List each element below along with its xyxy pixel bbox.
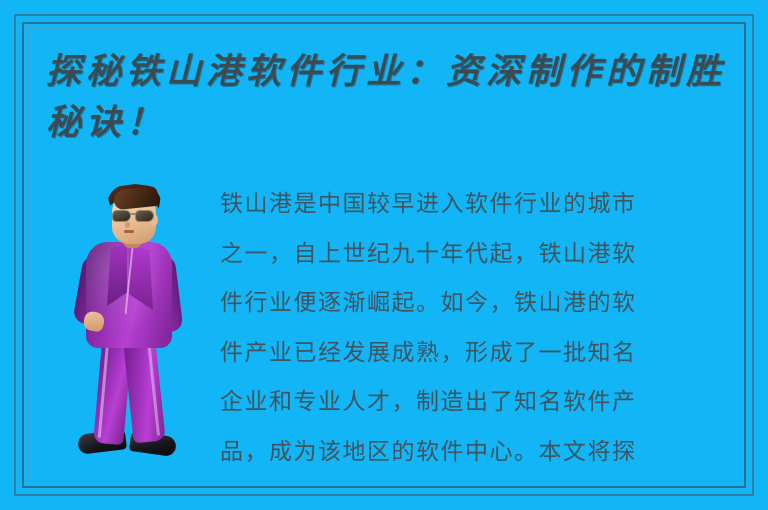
body-line-6: 品，成为该地区的软件中心。本文将探: [220, 428, 740, 478]
sunglasses-lens-left: [112, 210, 131, 222]
sunglasses-lens-right: [135, 210, 154, 222]
title-line-2: 秘诀！: [46, 97, 736, 148]
poster-title: 探秘铁山港软件行业：资深制作的制胜 秘诀！: [46, 46, 736, 148]
title-line-1: 探秘铁山港软件行业：资深制作的制胜: [46, 46, 736, 97]
poster-canvas: 探秘铁山港软件行业：资深制作的制胜 秘诀！: [0, 0, 768, 510]
mascot-mouth: [124, 230, 134, 233]
body-line-2: 之一，自上世纪九十年代起，铁山港软: [220, 230, 740, 280]
body-line-5: 企业和专业人才，制造出了知名软件产: [220, 378, 740, 428]
poster-body-text: 铁山港是中国较早进入软件行业的城市 之一，自上世纪九十年代起，铁山港软 件行业便…: [220, 180, 740, 477]
body-line-3: 件行业便逐渐崛起。如今，铁山港的软: [220, 279, 740, 329]
sunglasses-icon: [111, 210, 158, 223]
body-line-4: 件产业已经发展成熟，形成了一批知名: [220, 329, 740, 379]
body-line-1: 铁山港是中国较早进入软件行业的城市: [220, 180, 740, 230]
mascot-illustration: [62, 182, 194, 472]
